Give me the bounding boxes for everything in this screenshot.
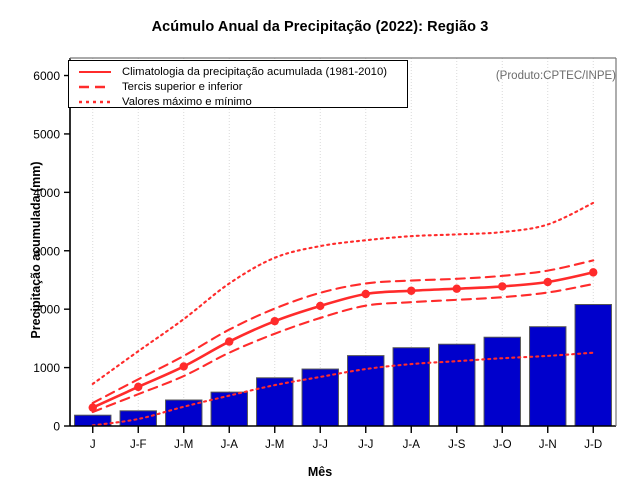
bar	[530, 327, 566, 426]
y-tick-label: 5000	[33, 127, 60, 141]
series-markers-group	[89, 268, 598, 412]
bar	[393, 348, 429, 426]
legend-label: Climatologia da precipitação acumulada (…	[122, 66, 387, 78]
legend-item-climatology: Climatologia da precipitação acumulada (…	[77, 65, 387, 79]
y-tick-label: 3000	[33, 244, 60, 258]
bar	[348, 356, 384, 426]
bar	[120, 411, 156, 426]
bar	[166, 400, 202, 426]
legend-key-dashed-icon	[77, 81, 113, 93]
x-tick-label: J-A	[221, 439, 239, 451]
legend-label: Valores máximo e mínimo	[122, 96, 252, 108]
legend-key-dotted-icon	[77, 96, 113, 108]
y-tick-label: 0	[53, 420, 60, 434]
legend-item-terciles: Tercis superior e inferior	[77, 80, 243, 94]
bar	[439, 344, 475, 426]
x-tick-label: J-M	[265, 439, 284, 451]
x-tick-label: J-D	[584, 439, 602, 451]
bars-group	[75, 305, 612, 426]
data-point-marker	[225, 337, 233, 345]
x-tick-label: J-O	[493, 439, 512, 451]
bar	[575, 305, 611, 426]
x-tick-label: J-J	[313, 439, 328, 451]
chart-legend: Climatologia da precipitação acumulada (…	[68, 60, 408, 108]
y-tick-labels: 0100020003000400050006000	[33, 69, 60, 433]
data-point-marker	[271, 317, 279, 325]
bar	[211, 392, 247, 426]
x-tick-label: J-S	[448, 439, 466, 451]
data-point-marker	[453, 285, 461, 293]
y-tick-label: 6000	[33, 69, 60, 83]
x-tick-labels: JJ-FJ-MJ-AJ-MJ-JJ-JJ-AJ-SJ-OJ-NJ-D	[90, 439, 602, 451]
data-point-marker	[362, 290, 370, 298]
data-point-marker	[589, 268, 597, 276]
data-point-marker	[407, 287, 415, 295]
legend-item-extremes: Valores máximo e mínimo	[77, 95, 252, 109]
data-point-marker	[498, 282, 506, 290]
bar	[302, 369, 338, 426]
x-tick-label: J-A	[403, 439, 421, 451]
x-tick-label: J	[90, 439, 96, 451]
data-point-marker	[544, 278, 552, 286]
x-tick-label: J-M	[174, 439, 193, 451]
x-tick-label: J-J	[358, 439, 373, 451]
x-tick-label: J-F	[130, 439, 147, 451]
precipitation-chart: Acúmulo Anual da Precipitação (2022): Re…	[0, 0, 640, 500]
y-tick-label: 1000	[33, 361, 60, 375]
legend-label: Tercis superior e inferior	[122, 81, 243, 93]
y-tick-label: 4000	[33, 186, 60, 200]
x-tick-label: J-N	[539, 439, 557, 451]
data-point-marker	[180, 362, 188, 370]
data-point-marker	[134, 383, 142, 391]
y-tick-label: 2000	[33, 303, 60, 317]
bar	[484, 337, 520, 426]
data-point-marker	[316, 302, 324, 310]
legend-key-solid-icon	[77, 66, 113, 78]
data-point-marker	[89, 403, 97, 411]
